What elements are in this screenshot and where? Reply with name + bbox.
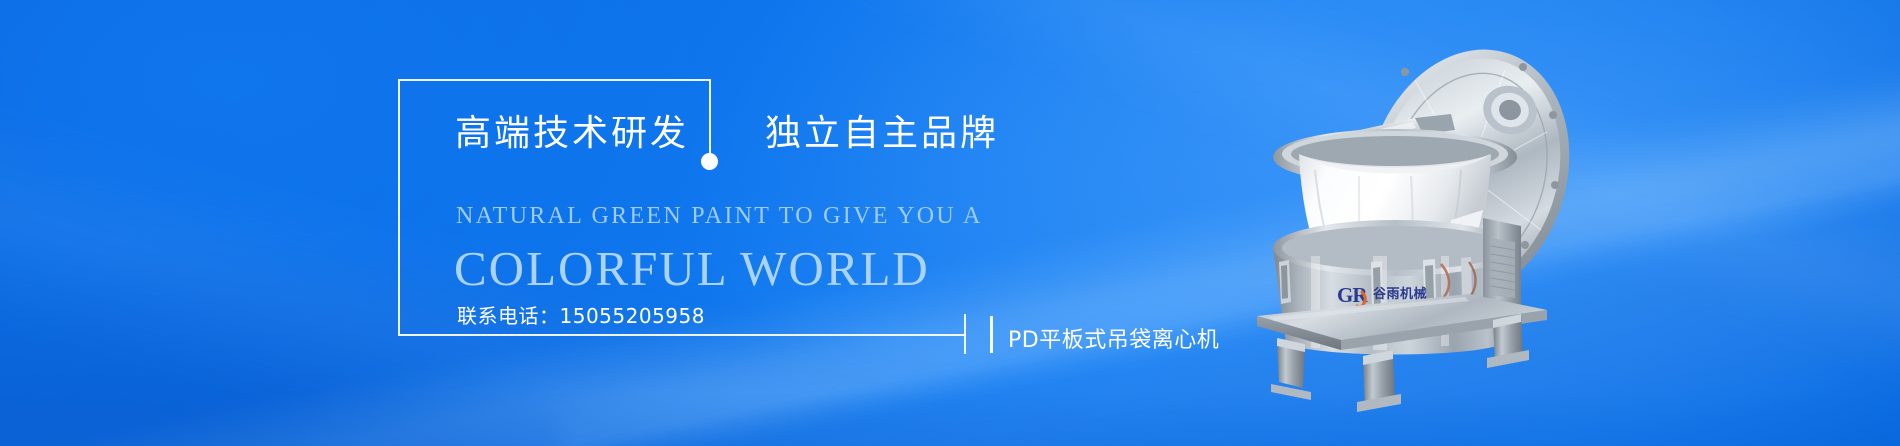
centrifuge-illustration: GR 谷雨机械 Guyu Machine (1255, 20, 1585, 420)
control-box (1483, 218, 1521, 312)
product-caption: PD平板式吊袋离心机 (1008, 322, 1219, 354)
headline-left: 高端技术研发 (455, 113, 689, 154)
caption-connector-line (710, 334, 966, 336)
page-title: 高端技术研发独立自主品牌 (455, 112, 999, 155)
headline-right: 独立自主品牌 (765, 113, 999, 154)
background-bottom-shade (0, 392, 1900, 446)
subtitle-english: NATURAL GREEN PAINT TO GIVE YOU A (456, 203, 983, 230)
product-image: GR 谷雨机械 Guyu Machine (1255, 20, 1585, 420)
promo-banner: 高端技术研发独立自主品牌 NATURAL GREEN PAINT TO GIVE… (0, 0, 1900, 446)
caption-accent-bar (990, 316, 993, 353)
tagline-english: COLORFUL WORLD (454, 240, 930, 297)
caption-connector-tick (964, 314, 966, 354)
dot-marker-icon (701, 153, 718, 170)
contact-phone: 联系电话：15055205958 (457, 300, 705, 329)
